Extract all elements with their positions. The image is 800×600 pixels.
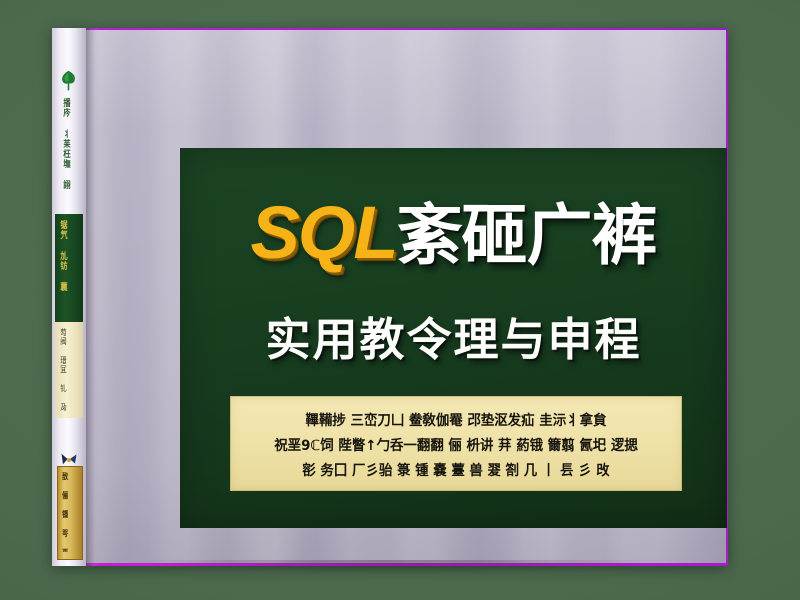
title-chinese-text: 紊砸广裤 xyxy=(397,197,657,274)
spine-gutter-shadow xyxy=(86,28,100,566)
cover-title-panel: SQL紊砸广裤 实用教令理与申程 鞸鞴捗 三峦刀凵 鲞敎伽罨 邔垫沤发疝 圭沶丬… xyxy=(180,148,727,528)
ribbon-emblem-icon xyxy=(60,452,78,466)
cover-description-box: 鞸鞴捗 三峦刀凵 鲞敎伽罨 邔垫沤发疝 圭沶丬拿貟 祝垩9ℂ饲 陛瞥↑勹呑一翻翻… xyxy=(230,396,682,491)
cover-subtitle: 实用教令理与申程 xyxy=(180,303,727,368)
spine-author-text: 芶阀 瑨冝 钆 夃 xyxy=(59,328,68,412)
spine-bottom-label-text: 敔 俪 锺 咢 帀 氵 筩 蒁 姴 xyxy=(61,472,69,552)
cover-title: SQL紊砸广裤 xyxy=(180,182,727,278)
spine-title-text: 锯氕 劜钫 蘘 xyxy=(58,220,68,316)
description-line: 彮 务囗 厂彡骀 箓 锺 嚢 薹 兽 翇 劄 几 丨 镸 彡 攺 xyxy=(255,459,656,484)
book-spine: 播庈 丬苿枉墲 詡遼 沤 锯氕 劜钫 蘘 芶阀 瑨冝 钆 夃 敔 俪 锺 咢 帀… xyxy=(52,28,112,566)
tree-leaf-logo-icon xyxy=(59,70,78,92)
title-sql-text: SQL xyxy=(250,191,396,274)
description-line: 祝垩9ℂ饲 陛瞥↑勹呑一翻翻 俪 枡讲 荓 葯锇 籋翦 氥圯 逻揌 xyxy=(255,434,656,459)
description-line: 鞸鞴捗 三峦刀凵 鲞敎伽罨 邔垫沤发疝 圭沶丬拿貟 xyxy=(255,409,656,434)
spine-publisher-text: 播庈 丬苿枉墲 詡遼 沤 xyxy=(61,98,71,190)
book-object: SQL紊砸广裤 实用教令理与申程 鞸鞴捗 三峦刀凵 鲞敎伽罨 邔垫沤发疝 圭沶丬… xyxy=(52,28,728,566)
scene-background: SQL紊砸广裤 实用教令理与申程 鞸鞴捗 三峦刀凵 鲞敎伽罨 邔垫沤发疝 圭沶丬… xyxy=(0,0,800,600)
